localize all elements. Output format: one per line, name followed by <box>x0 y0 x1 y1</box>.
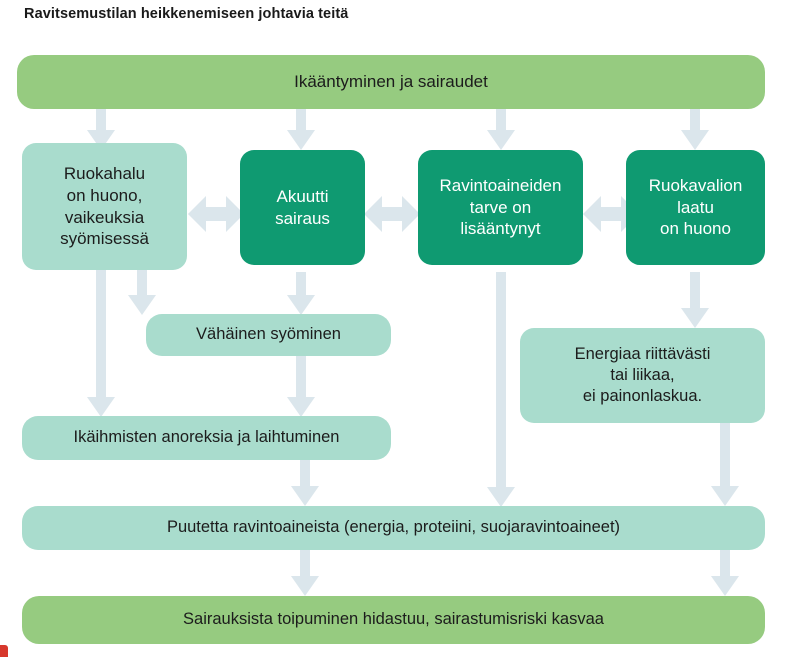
arrow-down-aging-to-diet-quality <box>678 104 712 150</box>
node-vahainen-syominen[interactable]: Vähäinen syöminen <box>146 314 391 356</box>
node-sairauksista-toipuminen[interactable]: Sairauksista toipuminen hidastuu, sairas… <box>22 596 765 644</box>
arrow-down-acute-to-low-eating <box>284 272 318 315</box>
node-ravintoaineiden-tarve[interactable]: Ravintoaineiden tarve on lisääntynyt <box>418 150 583 265</box>
arrow-down-nutrient-to-deficiency <box>484 272 518 507</box>
arrow-down-aging-to-acute-illness <box>284 104 318 150</box>
arrow-double-appetite-acute <box>188 190 244 238</box>
arrow-down-anorexia-to-deficiency <box>288 460 322 506</box>
arrow-down-appetite-to-low-eating <box>125 265 159 315</box>
node-energiaa-riittavasti[interactable]: Energiaa riittävästi tai liikaa, ei pain… <box>520 328 765 423</box>
arrow-double-acute-nutrient <box>364 190 420 238</box>
arrow-down-aging-to-nutrient-need <box>484 104 518 150</box>
arrow-down-appetite-to-anorexia <box>84 265 118 417</box>
node-ruokahalu-on-huono[interactable]: Ruokahalu on huono, vaikeuksia syömisess… <box>22 143 187 270</box>
diagram-canvas: Ravitsemustilan heikkenemiseen johtavia … <box>0 0 792 657</box>
corner-mark <box>0 645 8 657</box>
node-ikaihmisten-anoreksia[interactable]: Ikäihmisten anoreksia ja laihtuminen <box>22 416 391 460</box>
arrow-down-diet-to-energy <box>678 272 712 328</box>
node-puutetta-ravintoaineista[interactable]: Puutetta ravintoaineista (energia, prote… <box>22 506 765 550</box>
arrow-down-energy-to-deficiency <box>708 423 742 506</box>
node-ruokavalion-laatu[interactable]: Ruokavalion laatu on huono <box>626 150 765 265</box>
node-ikaantyminen-ja-sairaudet[interactable]: Ikääntyminen ja sairaudet <box>17 55 765 109</box>
arrow-down-low-eating-to-anorexia <box>284 355 318 417</box>
arrow-down-deficiency-to-recovery-left <box>288 550 322 596</box>
bottom-rule <box>0 652 792 657</box>
page-title: Ravitsemustilan heikkenemiseen johtavia … <box>24 6 348 22</box>
node-akuutti-sairaus[interactable]: Akuutti sairaus <box>240 150 365 265</box>
arrow-down-deficiency-to-recovery-right <box>708 550 742 596</box>
